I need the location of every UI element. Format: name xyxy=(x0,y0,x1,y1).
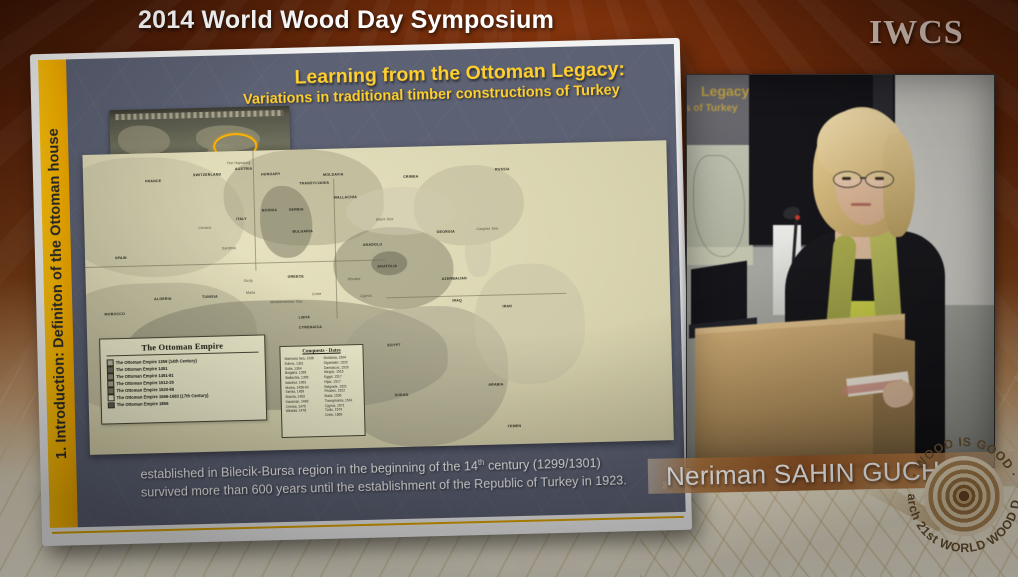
conquests-column-1: Marmara Sea, 1336Edirne, 1361Sofia, 1364… xyxy=(285,356,322,419)
map-label: HUNGARY xyxy=(261,172,281,176)
world-map-border-top xyxy=(115,110,283,120)
slide-body-text-b: century (1299/1301) xyxy=(484,456,601,473)
map-label: AZERBAIJAN xyxy=(442,276,467,281)
logo-top-text-path: · WOOD IS GOOD · xyxy=(907,435,1018,480)
conquests-item: Albania, 1478 xyxy=(286,408,321,414)
map-label: GREECE xyxy=(288,274,304,278)
map-label: MOLDAVIA xyxy=(323,172,344,177)
map-label: Cyprus xyxy=(360,294,372,298)
map-legend-label: The Ottoman Empire 1512-20 xyxy=(116,380,174,386)
map-legend: The Ottoman Empire The Ottoman Empire 13… xyxy=(99,334,267,424)
map-label: RUSSIA xyxy=(495,167,510,171)
map-legend-label: The Ottoman Empire 1451-81 xyxy=(116,373,174,379)
map-label: AUSTRIA xyxy=(235,167,252,171)
map-label: TRANSYLVANIA xyxy=(299,181,329,186)
map-label: Malta xyxy=(246,291,255,295)
map-label: Rhodes xyxy=(348,277,361,281)
map-legend-swatch xyxy=(107,366,114,373)
map-label: MOROCCO xyxy=(104,312,125,317)
map-label: ARABIA xyxy=(488,382,503,386)
map-legend-swatch xyxy=(107,359,114,366)
map-label: ALGERIA xyxy=(154,297,172,301)
map-legend-entries: The Ottoman Empire 1359 (14th Century)Th… xyxy=(107,356,260,409)
map-label: IRAN xyxy=(502,304,512,308)
map-legend-label: The Ottoman Empire 1856 xyxy=(117,401,169,407)
map-label: GEORGIA xyxy=(436,230,454,234)
screenshot-root: 2014 World Wood Day Symposium IWCS 1. In… xyxy=(0,0,1018,577)
map-legend-swatch xyxy=(107,381,114,388)
map-label: ITALY xyxy=(236,217,247,221)
map-label: Mediterranean Sea xyxy=(270,299,302,304)
map-label: Corsica xyxy=(198,226,211,230)
map-label: Sicily xyxy=(244,279,253,283)
map-label: ANATOLIA xyxy=(377,264,397,269)
presentation-slide[interactable]: 1. Introduction: Definiton of the Ottoma… xyxy=(30,38,692,546)
map-label: Crete xyxy=(312,292,321,296)
map-label: SWITZERLAND xyxy=(193,172,221,177)
map-label: SPAIN xyxy=(115,256,127,260)
map-label: LIBYA xyxy=(299,315,311,319)
slide-section-label: 1. Introduction: Definiton of the Ottoma… xyxy=(46,128,70,459)
map-label: EGYPT xyxy=(387,343,400,347)
conquests-column-2: Moldavia, 1504Diyarbakir, 1515Damascus, … xyxy=(324,355,361,418)
map-legend-label: The Ottoman Empire 1451 xyxy=(116,366,168,372)
map-label: BULGARIA xyxy=(292,229,313,234)
map-label: YEMEN xyxy=(507,424,521,428)
map-region-iran xyxy=(473,262,586,385)
map-label: IRAQ xyxy=(452,298,462,302)
map-label: Caspian Sea xyxy=(476,227,498,232)
map-label: TUNISIA xyxy=(202,295,218,299)
conquests-item: Crete, 1669 xyxy=(325,412,360,418)
map-label: WALLACHIA xyxy=(334,195,357,200)
slide-content-area: Learning from the Ottoman Legacy: Variat… xyxy=(66,44,686,527)
iwcs-logo: IWCS xyxy=(869,14,964,52)
map-label: CYRENAICA xyxy=(299,325,322,330)
map-label: ANADOLU xyxy=(363,242,382,246)
map-label: SERBIA xyxy=(289,207,304,211)
map-legend-swatch xyxy=(107,388,114,395)
map-legend-swatch xyxy=(108,402,115,409)
map-label: BOSNIA xyxy=(262,208,277,212)
map-label: SUDAN xyxy=(395,393,409,397)
ottoman-empire-map: FRANCESWITZERLANDAUSTRIAThe HapsburgHUNG… xyxy=(82,140,673,455)
speaker-video-panel[interactable]: Legacy: s of Turkey xyxy=(686,74,995,468)
conquests-title: Conquests - Dates xyxy=(284,348,358,355)
map-label: Sardinia xyxy=(222,246,236,250)
map-legend-swatch xyxy=(107,373,114,380)
map-label: FRANCE xyxy=(145,179,161,183)
map-sea-caspian xyxy=(464,215,492,278)
map-label: Black Sea xyxy=(376,217,393,221)
map-legend-swatch xyxy=(108,395,115,402)
logo-circular-text: · WOOD IS GOOD · March 21st WORLD WOOD D… xyxy=(898,430,1018,562)
conquests-table: Conquests - Dates Marmara Sea, 1336Edirn… xyxy=(279,344,365,438)
map-legend-label: The Ottoman Empire 1520-66 xyxy=(116,387,174,393)
video-vignette xyxy=(687,75,994,467)
world-wood-day-logo: · WOOD IS GOOD · March 21st WORLD WOOD D… xyxy=(898,430,1018,562)
event-title: 2014 World Wood Day Symposium xyxy=(138,6,554,35)
map-label: The Hapsburg xyxy=(227,161,251,166)
map-label: CRIMEA xyxy=(403,175,418,179)
